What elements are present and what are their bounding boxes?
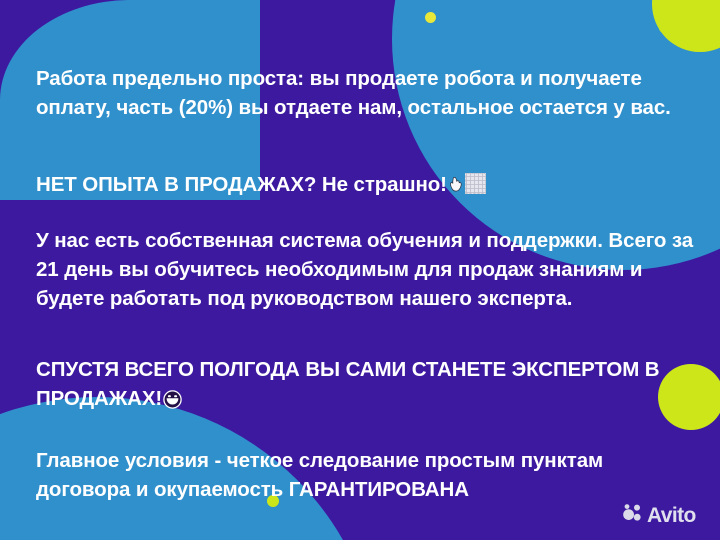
missing-glyph-box-icon	[465, 173, 486, 194]
paragraph-training-system-text: У нас есть собственная система обучения …	[36, 229, 693, 310]
promo-text-content: Работа предельно проста: вы продаете роб…	[0, 0, 720, 540]
paragraph-offer-terms-text: Работа предельно проста: вы продаете роб…	[36, 67, 671, 119]
grinning-smiley-emoji-icon	[163, 388, 182, 417]
paragraph-main-condition-text: Главное условия - четкое следование прос…	[36, 449, 603, 501]
avito-brand-label: Avito	[647, 505, 696, 526]
paragraph-offer-terms: Работа предельно проста: вы продаете роб…	[36, 35, 696, 122]
avito-watermark: Avito	[622, 503, 696, 527]
paragraph-expert-promise-text: СПУСТЯ ВСЕГО ПОЛГОДА ВЫ САМИ СТАНЕТЕ ЭКС…	[36, 358, 660, 410]
paragraph-main-condition: Главное условия - четкое следование прос…	[36, 417, 696, 504]
avito-dots-logo-icon	[622, 503, 643, 527]
promo-image-canvas: Работа предельно проста: вы продаете роб…	[0, 0, 720, 540]
paragraph-no-experience-headline-text: НЕТ ОПЫТА В ПРОДАЖАХ? Не страшно!	[36, 173, 447, 196]
paragraph-expert-promise: СПУСТЯ ВСЕГО ПОЛГОДА ВЫ САМИ СТАНЕТЕ ЭКС…	[36, 326, 696, 417]
paragraph-training-system: У нас есть собственная система обучения …	[36, 197, 696, 313]
paragraph-no-experience-headline: НЕТ ОПЫТА В ПРОДАЖАХ? Не страшно!	[36, 141, 696, 201]
